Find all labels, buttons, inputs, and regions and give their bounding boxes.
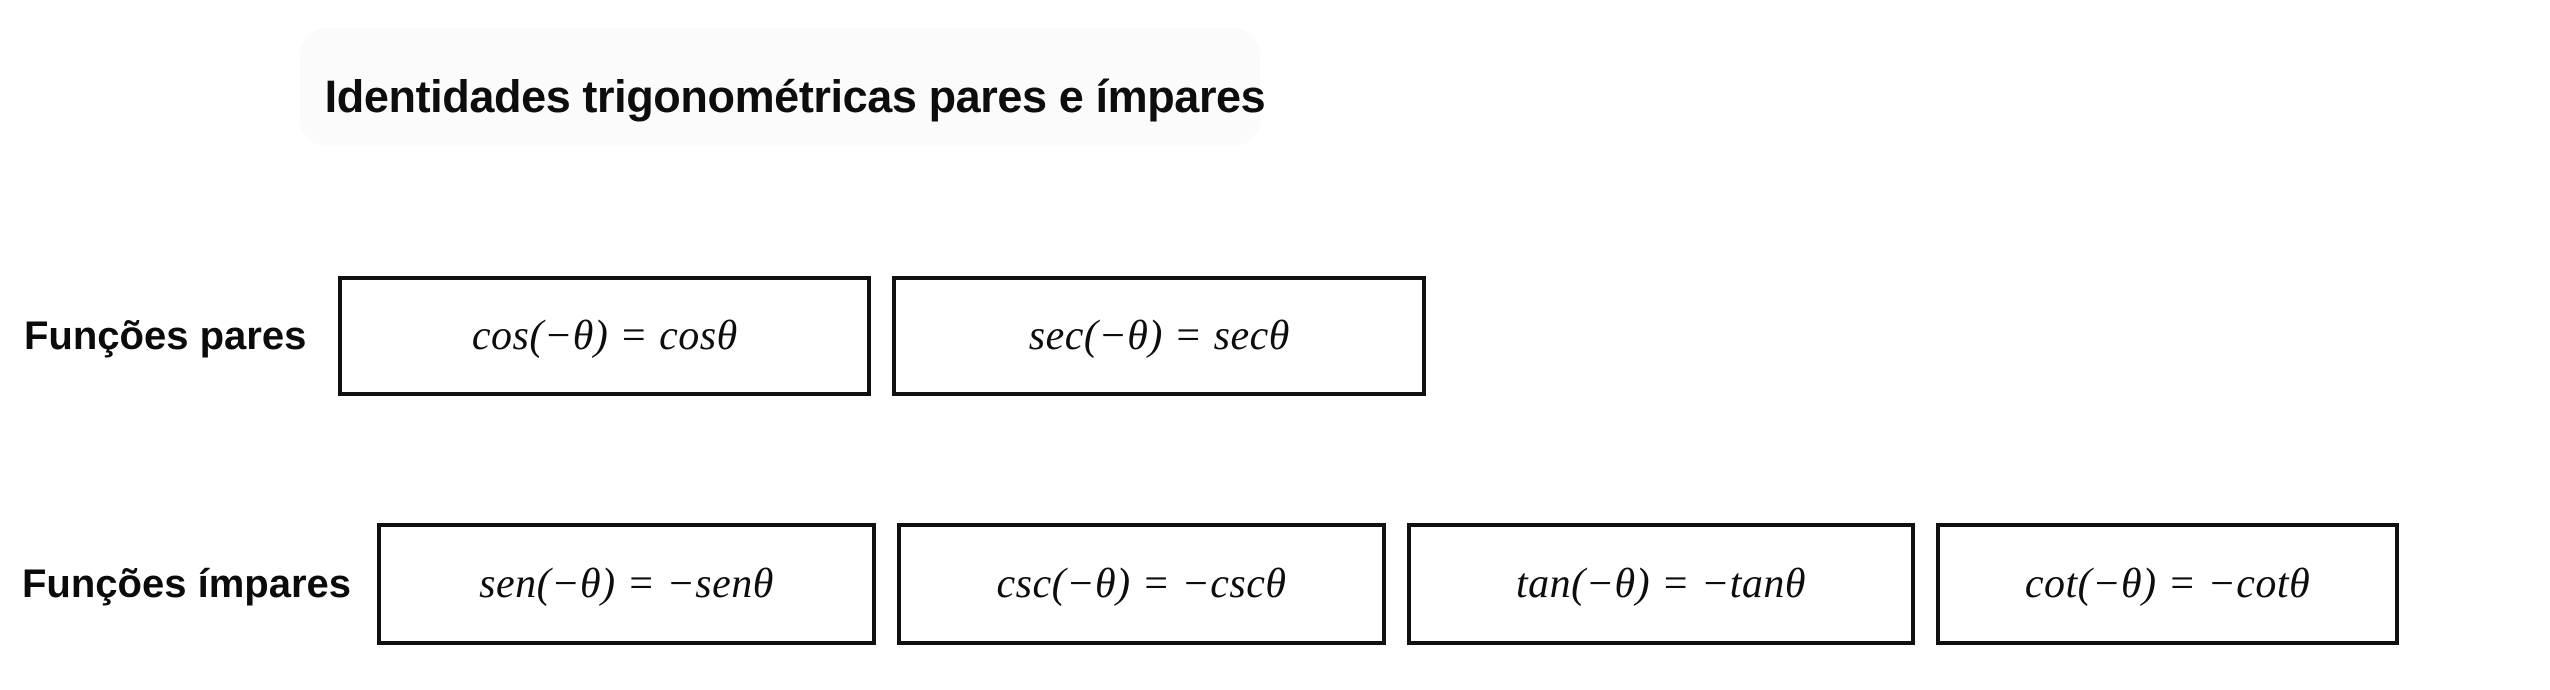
formula-box-csc[interactable]: csc(−θ) = −cscθ: [897, 523, 1386, 645]
formula-box-cos[interactable]: cos(−θ) = cosθ: [338, 276, 871, 396]
formula-box-sec[interactable]: sec(−θ) = secθ: [892, 276, 1426, 396]
slide-canvas: Identidades trigonométricas pares e ímpa…: [0, 0, 2550, 690]
even-functions-label: Funções pares: [24, 312, 306, 360]
even-functions-row: Funções pares cos(−θ) = cosθ sec(−θ) = s…: [0, 272, 1426, 400]
formula-box-tan[interactable]: tan(−θ) = −tanθ: [1407, 523, 1915, 645]
odd-functions-formula-list: sen(−θ) = −senθ csc(−θ) = −cscθ tan(−θ) …: [377, 523, 2399, 645]
odd-functions-label: Funções ímpares: [22, 560, 351, 608]
formula-box-cot[interactable]: cot(−θ) = −cotθ: [1936, 523, 2399, 645]
formula-box-sen[interactable]: sen(−θ) = −senθ: [377, 523, 876, 645]
page-title: Identidades trigonométricas pares e ímpa…: [0, 70, 1590, 124]
odd-functions-row: Funções ímpares sen(−θ) = −senθ csc(−θ) …: [0, 518, 2399, 650]
even-functions-formula-list: cos(−θ) = cosθ sec(−θ) = secθ: [338, 276, 1426, 396]
